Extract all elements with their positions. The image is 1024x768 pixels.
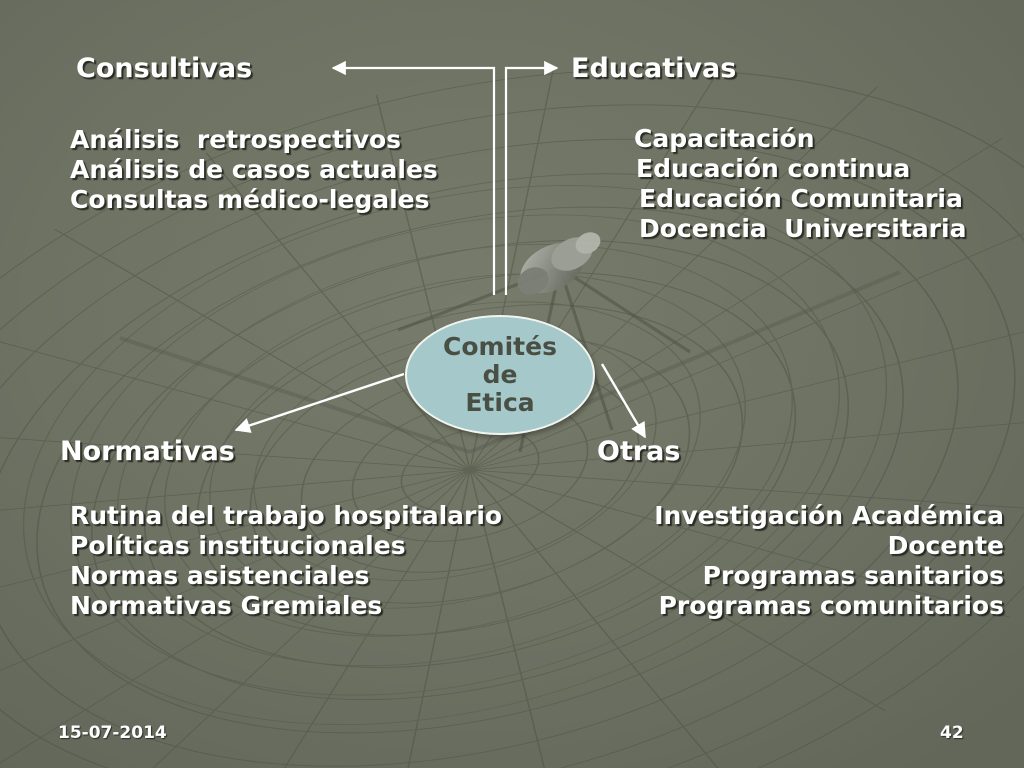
list-normativas: Rutina del trabajo hospitalario Política… — [70, 501, 502, 621]
list-item: Normas asistenciales — [70, 561, 502, 591]
list-item: Educación Comunitaria — [634, 184, 966, 214]
heading-educativas: Educativas — [571, 54, 736, 84]
arrow-right-icon — [506, 68, 557, 295]
heading-consultivas: Consultivas — [76, 54, 252, 84]
list-item: Programas sanitarios — [654, 561, 1004, 591]
center-node-line-3: Etica — [465, 389, 534, 417]
list-item: Consultas médico-legales — [70, 185, 438, 215]
heading-otras: Otras — [597, 437, 680, 467]
dish-feed-horn — [512, 228, 605, 303]
list-educativas: Capacitación Educación continua Educació… — [634, 124, 966, 244]
center-node-line-1: Comités — [443, 333, 557, 361]
slide-canvas: Consultivas Educativas Normativas Otras … — [0, 0, 1024, 768]
list-item: Capacitación — [634, 124, 966, 154]
list-item: Normativas Gremiales — [70, 591, 502, 621]
arrow-down-left-icon — [236, 374, 404, 430]
center-node-line-2: de — [483, 361, 518, 389]
list-item: Docencia Universitaria — [634, 214, 966, 244]
list-item: Rutina del trabajo hospitalario — [70, 501, 502, 531]
list-consultivas: Análisis retrospectivos Análisis de caso… — [70, 125, 438, 215]
footer-date: 15-07-2014 — [58, 723, 167, 743]
footer-page-number: 42 — [940, 723, 964, 743]
list-item: Educación continua — [634, 154, 966, 184]
list-item: Políticas institucionales — [70, 531, 502, 561]
heading-normativas: Normativas — [60, 437, 235, 467]
list-item: Análisis retrospectivos — [70, 125, 438, 155]
list-item: Docente — [654, 531, 1004, 561]
list-item: Investigación Académica — [654, 501, 1004, 531]
list-item: Análisis de casos actuales — [70, 155, 438, 185]
arrow-down-right-icon — [602, 364, 645, 437]
center-node-comites-de-etica: Comités de Etica — [405, 315, 595, 435]
list-otras: Investigación Académica Docente Programa… — [654, 501, 1004, 621]
list-item: Programas comunitarios — [654, 591, 1004, 621]
